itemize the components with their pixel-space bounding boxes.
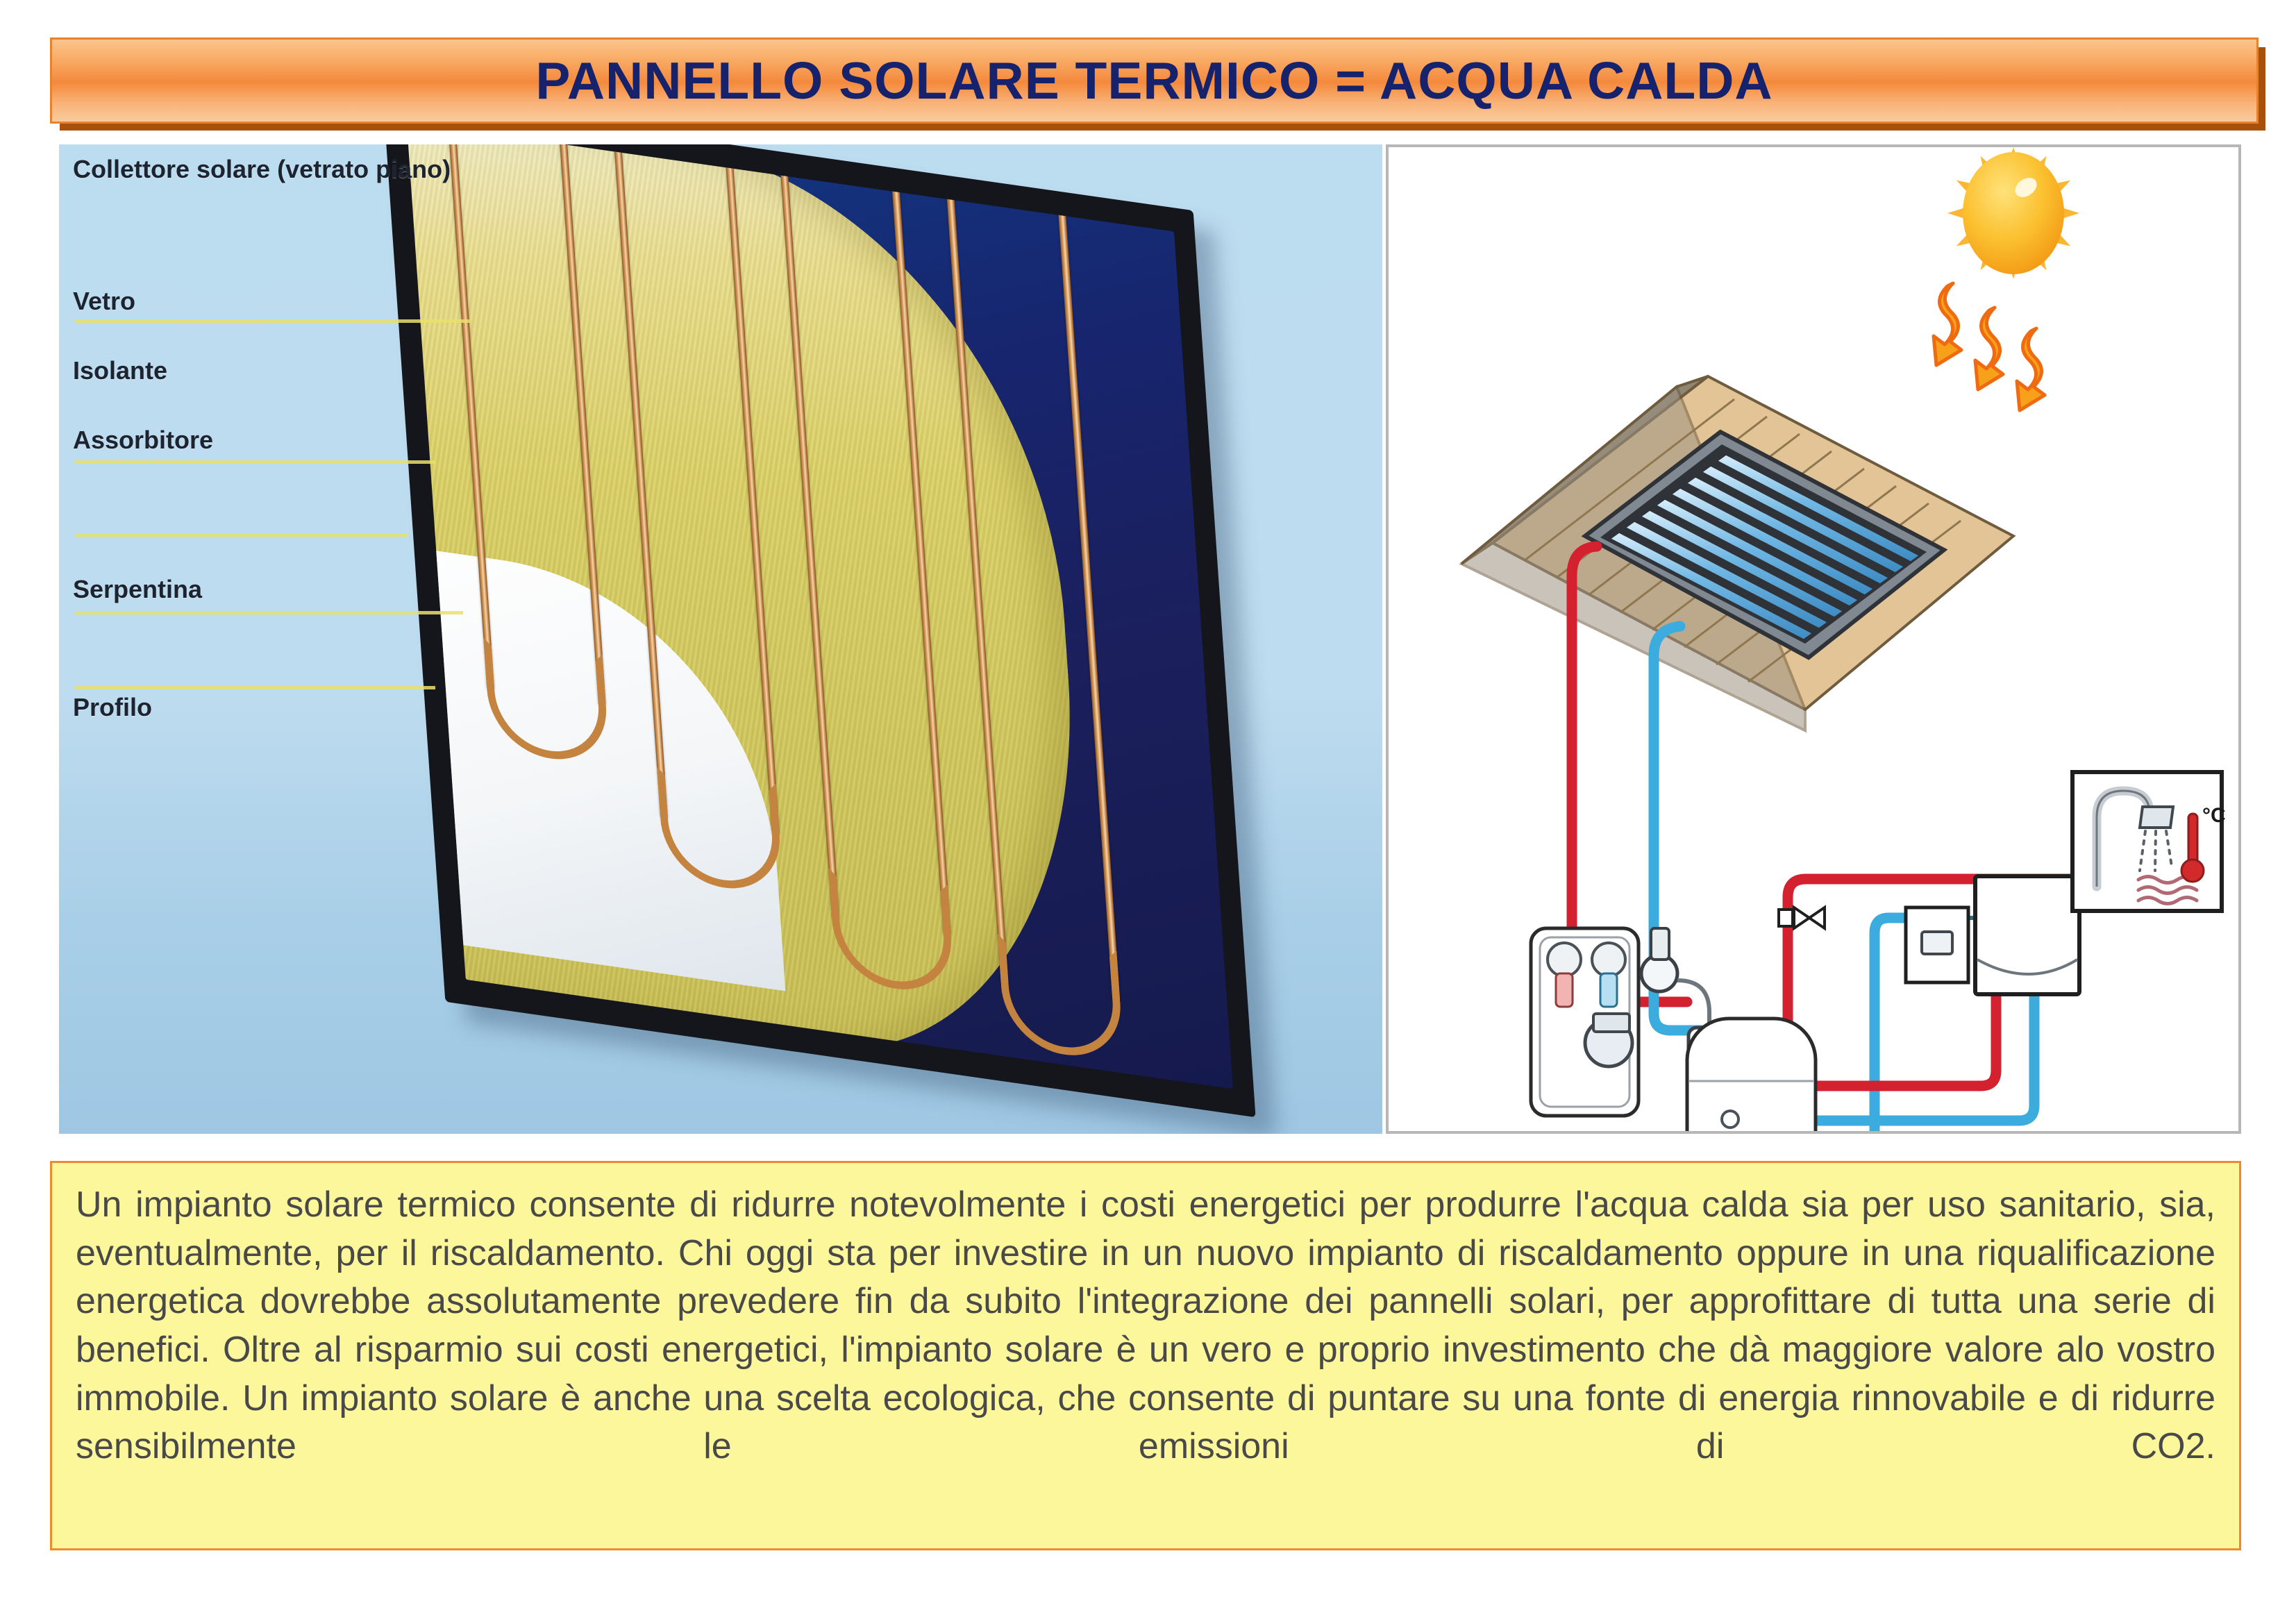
solar-thermal-system-figure: KW bbox=[1386, 144, 2241, 1134]
sun-icon bbox=[1947, 147, 2079, 279]
pump-station-icon bbox=[1531, 928, 1639, 1116]
collector-interior bbox=[407, 144, 1233, 1089]
boiler-hot-pipe bbox=[1805, 991, 1996, 1086]
collector-frame bbox=[383, 144, 1255, 1117]
leader-line-profilo bbox=[74, 686, 435, 689]
label-assorbitore: Assorbitore bbox=[73, 426, 213, 455]
storage-tank-icon bbox=[1687, 1019, 1816, 1134]
solar-ray-arrow-icon bbox=[1934, 283, 2045, 410]
title-banner: PANNELLO SOLARE TERMICO = ACQUA CALDA bbox=[50, 37, 2259, 124]
shower-box: °C bbox=[2072, 772, 2226, 911]
leader-line-serpentina bbox=[74, 611, 463, 614]
description-box: Un impianto solare termico consente di r… bbox=[50, 1161, 2241, 1550]
label-isolante: Isolante bbox=[73, 356, 167, 385]
system-schematic-svg: KW bbox=[1389, 147, 2241, 1134]
mixing-valve-icon bbox=[1779, 907, 1825, 928]
description-text: Un impianto solare termico consente di r… bbox=[76, 1181, 2215, 1520]
page-title: PANNELLO SOLARE TERMICO = ACQUA CALDA bbox=[535, 55, 1773, 107]
label-serpentina: Serpentina bbox=[73, 575, 202, 604]
leader-line-vetro bbox=[74, 319, 470, 323]
collector-illustration bbox=[288, 144, 1371, 1116]
leader-line-assorbitore bbox=[74, 533, 408, 537]
boiler-icon bbox=[1975, 876, 2079, 994]
degree-celsius-text: °C bbox=[2202, 804, 2226, 827]
label-vetro: Vetro bbox=[73, 287, 135, 316]
cold-inlet-pipe bbox=[1875, 918, 1888, 1134]
label-collettore-solare: Collettore solare (vetrato piano) bbox=[73, 155, 451, 184]
label-profilo: Profilo bbox=[73, 693, 152, 722]
controller-icon bbox=[1906, 907, 1968, 982]
solar-collector-cutaway-figure: Collettore solare (vetrato piano) Vetro … bbox=[59, 144, 1382, 1134]
leader-line-isolante bbox=[74, 460, 435, 464]
